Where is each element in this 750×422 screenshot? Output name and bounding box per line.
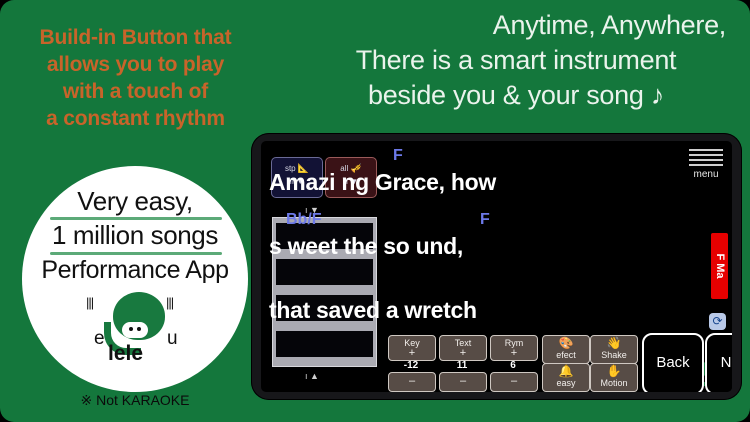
- easy-label: easy: [543, 378, 589, 388]
- easy-button[interactable]: 🔔 easy: [542, 363, 590, 392]
- lyric-line-3: that saved a wretch: [269, 297, 477, 324]
- shake-button[interactable]: 👋 Shake: [590, 335, 638, 364]
- mascot-eye-right: [137, 327, 141, 331]
- chord-label-3: F: [480, 211, 490, 229]
- effect-label: efect: [543, 350, 589, 360]
- text-decrease-button[interactable]: –: [439, 372, 487, 392]
- tagline-line-1: Anytime, Anywhere,: [288, 8, 744, 43]
- chord-label-1: F: [393, 147, 403, 165]
- key-indicator-bar[interactable]: F Ma: [711, 233, 728, 299]
- motion-label: Motion: [591, 378, 637, 388]
- app-screen: stp 📐 ff ▼ all 🎺 ff ▼ ı ▼ ı ▲: [261, 141, 732, 392]
- lyric-line-2: s weet the so und,: [269, 233, 463, 260]
- tagline-line-2: There is a smart instrument: [288, 43, 744, 78]
- tagline-line-3: beside you & your song ♪: [288, 78, 744, 113]
- rym-plus-sign: +: [491, 348, 537, 359]
- text-plus-sign: +: [440, 348, 486, 359]
- hamburger-icon: [686, 149, 726, 166]
- footnote-not-karaoke: ※ Not KARAOKE: [22, 392, 248, 409]
- text-increase-button[interactable]: Text +: [439, 335, 487, 361]
- mascot-letter-e: e: [94, 328, 105, 350]
- promo-headline-line-1: Build-in Button that: [8, 24, 263, 51]
- text-value: 11: [439, 360, 485, 371]
- promo-headline-line-2: allows you to play: [8, 51, 263, 78]
- rym-decrease-button[interactable]: –: [490, 372, 538, 392]
- tagline: Anytime, Anywhere, There is a smart inst…: [288, 8, 744, 113]
- promo-headline-line-4: a constant rhythm: [8, 105, 263, 132]
- mascot-hash-right: |||: [166, 298, 186, 324]
- mascot-eye-left: [129, 327, 133, 331]
- mascot-letter-u: u: [167, 328, 178, 350]
- lyric-line-1: Amazi ng Grace, how: [269, 169, 496, 196]
- badge-line-1: Very easy,: [22, 186, 248, 217]
- raised-hand-icon: ✋: [591, 365, 637, 378]
- effect-button[interactable]: 🎨 efect: [542, 335, 590, 364]
- key-indicator-label: F Ma: [714, 253, 726, 278]
- badge-divider-2: [50, 252, 222, 255]
- badge-circle: Very easy, 1 million songs Performance A…: [22, 166, 248, 392]
- mascot-hash-left: |||: [86, 298, 106, 324]
- promo-headline: Build-in Button that allows you to play …: [8, 24, 263, 132]
- shake-label: Shake: [591, 350, 637, 360]
- menu-button[interactable]: menu: [686, 149, 726, 180]
- badge-line-3: Performance App: [22, 256, 248, 285]
- key-value: -12: [388, 360, 434, 371]
- key-decrease-button[interactable]: –: [388, 372, 436, 392]
- promo-banner: Build-in Button that allows you to play …: [0, 0, 750, 422]
- promo-headline-line-3: with a touch of: [8, 78, 263, 105]
- scroll-down-indicator[interactable]: ı ▲: [305, 371, 319, 381]
- mascot-word-lele: lele: [108, 342, 143, 366]
- palette-icon: 🎨: [543, 337, 589, 350]
- badge-line-2: 1 million songs: [22, 220, 248, 251]
- motion-button[interactable]: ✋ Motion: [590, 363, 638, 392]
- text-minus-sign: –: [440, 376, 486, 387]
- chord-label-2: Bb/F: [286, 211, 322, 229]
- rym-increase-button[interactable]: Rym +: [490, 335, 538, 361]
- mascot-face: [122, 322, 148, 338]
- menu-label: menu: [686, 169, 726, 180]
- rym-value: 6: [490, 360, 536, 371]
- key-minus-sign: –: [389, 376, 435, 387]
- next-button[interactable]: Next: [705, 333, 732, 392]
- bell-icon: 🔔: [543, 365, 589, 378]
- rym-minus-sign: –: [491, 376, 537, 387]
- fret-band[interactable]: [276, 259, 373, 285]
- fret-band[interactable]: [276, 331, 373, 357]
- key-increase-button[interactable]: Key +: [388, 335, 436, 361]
- key-plus-sign: +: [389, 348, 435, 359]
- back-button[interactable]: Back: [642, 333, 704, 392]
- mascot-logo: ||| ||| e u lele: [82, 292, 192, 364]
- refresh-icon[interactable]: ⟳: [709, 313, 726, 330]
- waving-hand-icon: 👋: [591, 337, 637, 350]
- tablet-device: stp 📐 ff ▼ all 🎺 ff ▼ ı ▼ ı ▲: [251, 133, 742, 400]
